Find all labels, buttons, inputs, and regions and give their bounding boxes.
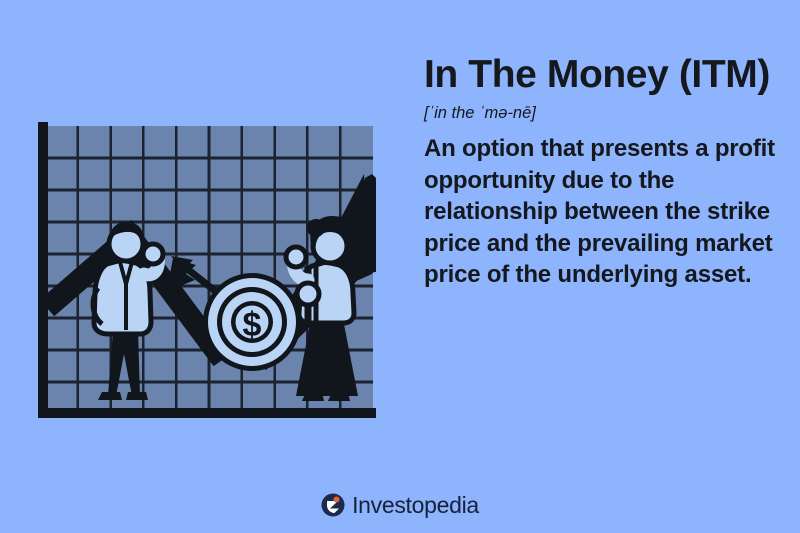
stock-chart-illustration: $ — [20, 108, 400, 428]
term-phonetic: [ˈin the ˈmə-nē] — [424, 102, 786, 124]
y-axis — [38, 122, 48, 418]
svg-text:$: $ — [243, 306, 262, 344]
definition-text-column: In The Money (ITM) [ˈin the ˈmə-nē] An o… — [424, 52, 786, 291]
investopedia-logo-icon — [321, 493, 345, 517]
definition-card: $ — [0, 0, 800, 533]
dollar-target-icon: $ — [203, 273, 301, 371]
term-definition: An option that presents a profit opportu… — [424, 133, 786, 291]
x-axis — [38, 408, 376, 418]
page-title: In The Money (ITM) — [424, 52, 786, 98]
brand-footer: Investopedia — [0, 493, 800, 517]
brand-wordmark: Investopedia — [352, 493, 479, 517]
